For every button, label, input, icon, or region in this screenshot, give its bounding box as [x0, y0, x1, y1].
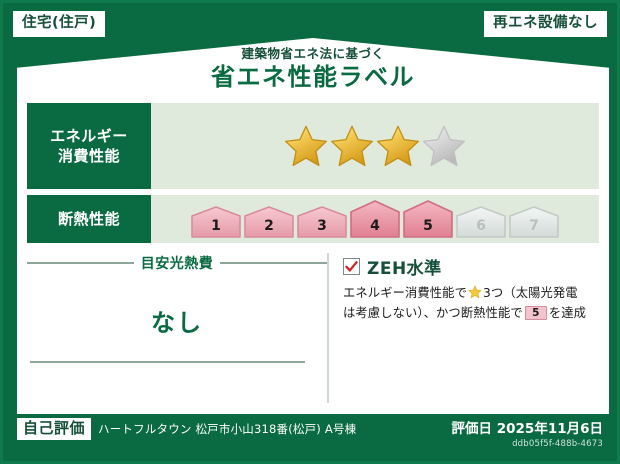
utility-cost-block: 目安光熱費 なし: [27, 253, 327, 403]
insulation-level-3: 3: [297, 206, 347, 238]
insulation-level-number: 4: [350, 219, 400, 233]
insulation-performance-value: 1234567: [151, 195, 599, 243]
star-rating: [284, 124, 466, 168]
star-filled-icon: [284, 124, 328, 168]
insulation-level-2: 2: [244, 206, 294, 238]
utility-cost-heading-text: 目安光熱費: [141, 253, 214, 273]
insulation-level-5: 5: [403, 200, 453, 238]
insulation-level-7: 7: [509, 206, 559, 238]
inline-star-icon: [468, 285, 482, 299]
zeh-desc-part1: エネルギー消費性能で: [343, 286, 467, 300]
energy-label-line1: エネルギー: [50, 127, 128, 145]
insulation-level-number: 5: [403, 219, 453, 233]
energy-performance-value: [151, 103, 599, 189]
energy-performance-label: 住宅(住戸) 再エネ設備なし 建築物省エネ法に基づく 省エネ性能ラベル エネルギ…: [0, 0, 620, 464]
section-divider: [327, 253, 329, 403]
insulation-level-4: 4: [350, 200, 400, 238]
checkbox-checked-icon: [343, 258, 360, 275]
star-filled-icon: [330, 124, 374, 168]
insulation-level-number: 1: [191, 219, 241, 233]
self-evaluation-badge: 自己評価: [17, 418, 91, 440]
star-empty-icon: [422, 124, 466, 168]
energy-performance-row: エネルギー 消費性能: [27, 103, 599, 189]
insulation-level-number: 7: [509, 219, 559, 233]
footer-left-group: 自己評価 ハートフルタウン 松戸市小山318番(松戸) A号棟: [17, 413, 356, 440]
insulation-level-6: 6: [456, 206, 506, 238]
badge-renewable-energy: 再エネ設備なし: [483, 10, 608, 38]
zeh-block: ZEH水準 エネルギー消費性能で3つ（太陽光発電は考慮しない）、かつ断熱性能で5…: [343, 253, 599, 403]
insulation-level-scale: 1234567: [191, 200, 559, 238]
energy-performance-label: エネルギー 消費性能: [27, 103, 151, 189]
zeh-description: エネルギー消費性能で3つ（太陽光発電は考慮しない）、かつ断熱性能で5を達成: [343, 284, 599, 324]
utility-cost-heading: 目安光熱費: [27, 253, 327, 273]
energy-label-line2: 消費性能: [58, 147, 120, 165]
insulation-level-number: 3: [297, 219, 347, 233]
insulation-performance-row: 断熱性能 1234567: [27, 195, 599, 243]
evaluation-date: 評価日 2025年11月6日: [452, 417, 603, 437]
title-subtitle: 建築物省エネ法に基づく: [3, 47, 620, 61]
zeh-desc-part2: は考慮しない）、かつ断熱性能で: [343, 306, 523, 320]
label-footer: 自己評価 ハートフルタウン 松戸市小山318番(松戸) A号棟 評価日 2025…: [17, 413, 603, 453]
star-filled-icon: [376, 124, 420, 168]
insulation-level-number: 6: [456, 219, 506, 233]
inline-level-chip: 5: [525, 306, 547, 320]
footer-right-group: 評価日 2025年11月6日 ddb05f5f-488b-4673: [452, 413, 603, 449]
property-name: ハートフルタウン 松戸市小山318番(松戸) A号棟: [98, 421, 356, 437]
heading-rule-right: [220, 262, 327, 264]
content-panel: エネルギー 消費性能 断熱性能 1234567 目安光熱費: [27, 103, 599, 405]
utility-cost-bottom-rule: [30, 361, 305, 363]
zeh-desc-stars: 3つ（太陽光発電: [483, 286, 578, 300]
page-title: 省エネ性能ラベル: [3, 64, 620, 90]
label-title-block: 建築物省エネ法に基づく 省エネ性能ラベル: [3, 47, 620, 90]
zeh-title: ZEH水準: [367, 254, 442, 279]
insulation-level-number: 2: [244, 219, 294, 233]
lower-section: 目安光熱費 なし ZEH水準 エネルギー消費性能で3つ（太陽: [27, 253, 599, 403]
zeh-desc-part3: を達成: [549, 306, 586, 320]
badge-building-type: 住宅(住戸): [12, 10, 106, 38]
zeh-heading: ZEH水準: [343, 254, 599, 279]
evaluation-id: ddb05f5f-488b-4673: [452, 439, 603, 449]
utility-cost-value: なし: [27, 303, 327, 338]
insulation-level-1: 1: [191, 206, 241, 238]
insulation-performance-label: 断熱性能: [27, 195, 151, 243]
heading-rule-left: [27, 262, 134, 264]
